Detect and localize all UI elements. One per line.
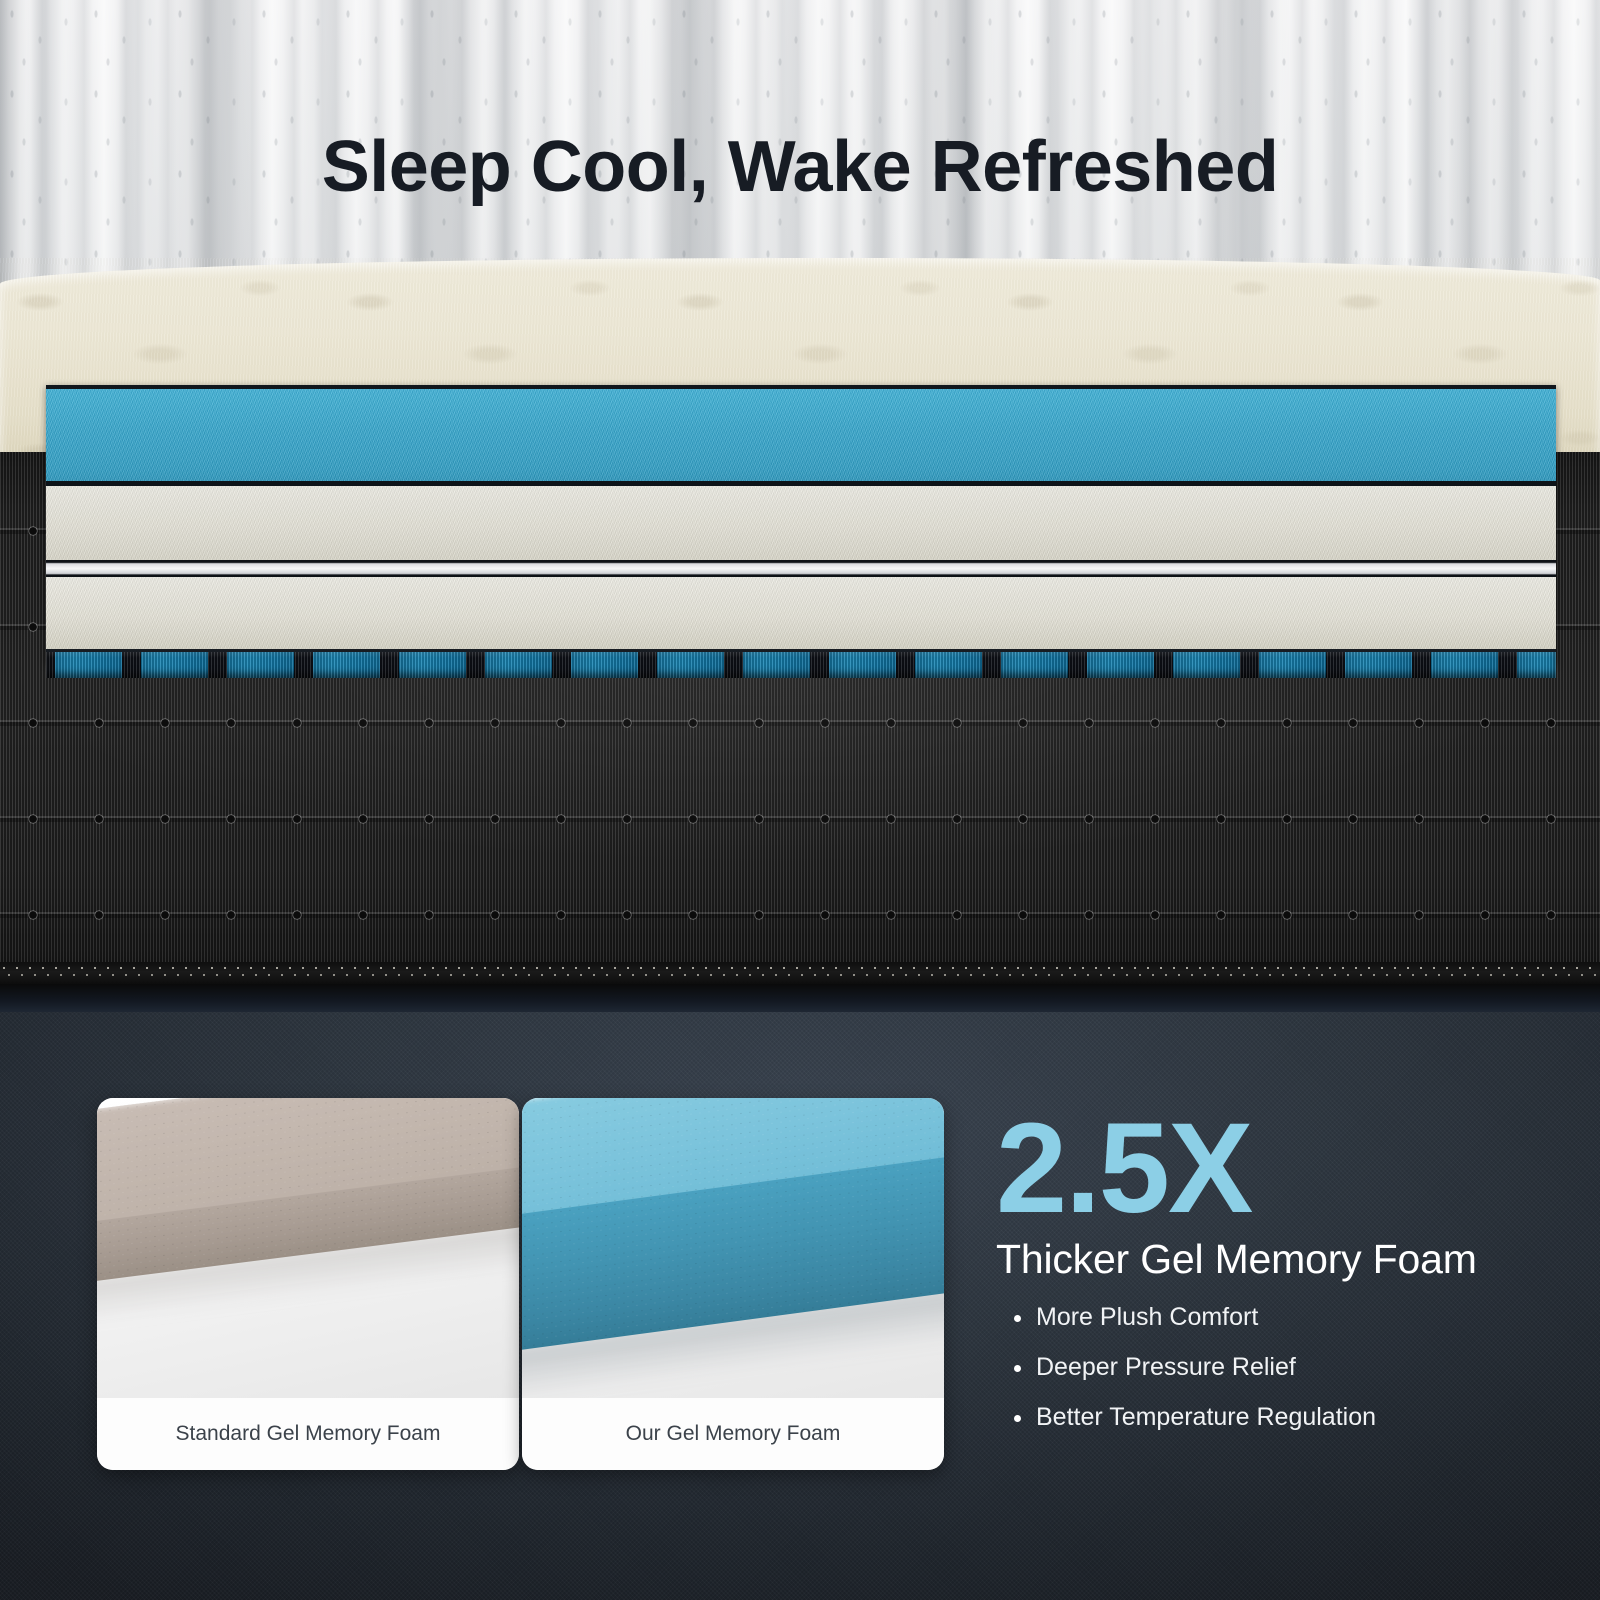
promo-benefit-list: More Plush Comfort Deeper Pressure Relie… [996, 1303, 1596, 1432]
cutaway-layer-support-foam [46, 577, 1556, 652]
card-standard-foam[interactable]: Standard Gel Memory Foam [97, 1098, 519, 1470]
list-item: More Plush Comfort [996, 1303, 1596, 1332]
standard-foam-photo [97, 1098, 519, 1398]
our-foam-label: Our Gel Memory Foam [522, 1398, 944, 1470]
multiplier-headline: 2.5X [996, 1110, 1596, 1228]
product-feature-image: Sleep Cool, Wake Refreshed [0, 0, 1600, 1600]
page-headline: Sleep Cool, Wake Refreshed [0, 126, 1600, 208]
mattress-bottom-trim [0, 962, 1600, 984]
trim-dot-texture [0, 962, 1600, 984]
card-our-foam[interactable]: Our Gel Memory Foam [522, 1098, 944, 1470]
promo-text-block: 2.5X Thicker Gel Memory Foam More Plush … [996, 1110, 1596, 1453]
cutaway-layer-pocket-coils [46, 652, 1556, 678]
mattress-base-shadow [0, 984, 1600, 1012]
mattress-cutaway-diagram [46, 385, 1556, 663]
standard-foam-label: Standard Gel Memory Foam [97, 1398, 519, 1470]
promo-subheading: Thicker Gel Memory Foam [996, 1236, 1596, 1283]
mattress-photo-scene: Sleep Cool, Wake Refreshed [0, 0, 1600, 1012]
cutaway-layer-comfort-foam [46, 486, 1556, 560]
list-item: Deeper Pressure Relief [996, 1353, 1596, 1382]
cutaway-layer-divider-strip [46, 560, 1556, 577]
cutaway-layer-gel-memory-foam [46, 385, 1556, 486]
our-foam-photo [522, 1098, 944, 1398]
list-item: Better Temperature Regulation [996, 1403, 1596, 1432]
